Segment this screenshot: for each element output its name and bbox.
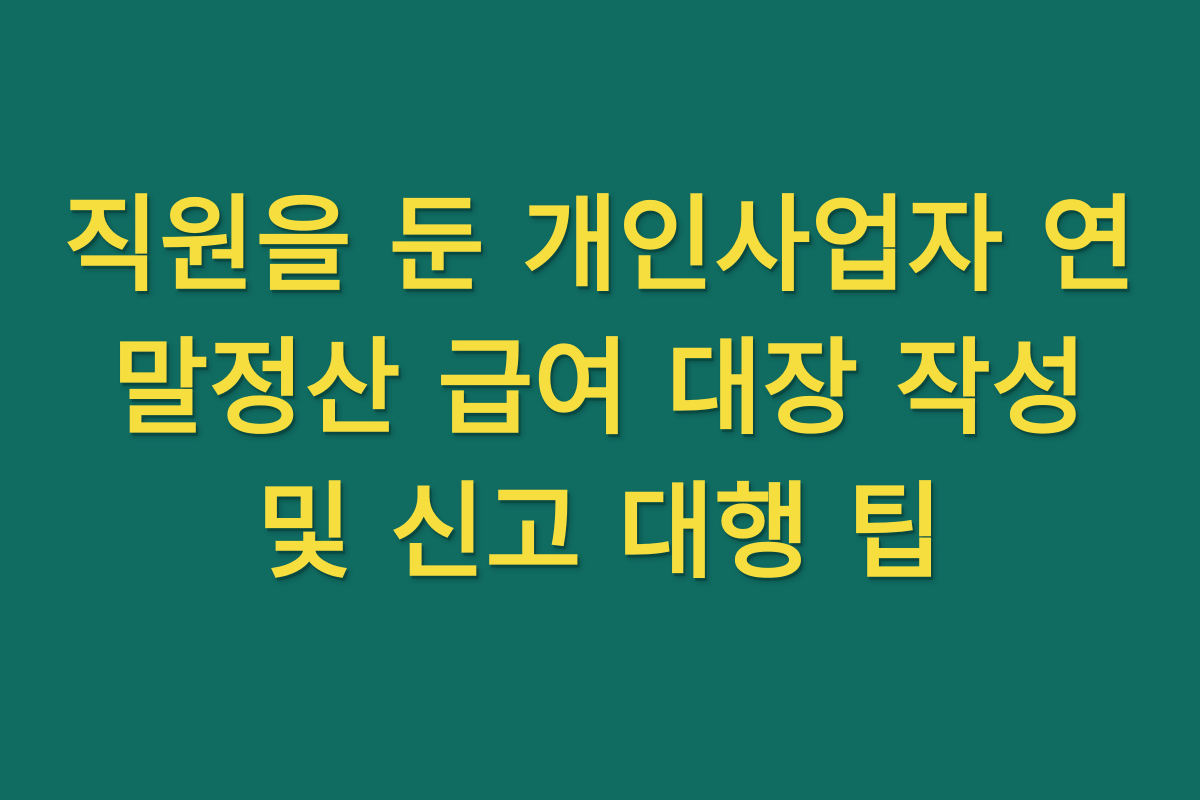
- headline-line-3: 및 신고 대행 팁: [257, 461, 943, 605]
- poster-canvas: 직원을 둔 개인사업자 연 말정산 급여 대장 작성 및 신고 대행 팁: [0, 0, 1200, 800]
- headline-line-2: 말정산 급여 대장 작성: [113, 317, 1088, 461]
- headline-block: 직원을 둔 개인사업자 연 말정산 급여 대장 작성 및 신고 대행 팁: [50, 174, 1150, 605]
- headline-line-1: 직원을 둔 개인사업자 연: [63, 174, 1137, 318]
